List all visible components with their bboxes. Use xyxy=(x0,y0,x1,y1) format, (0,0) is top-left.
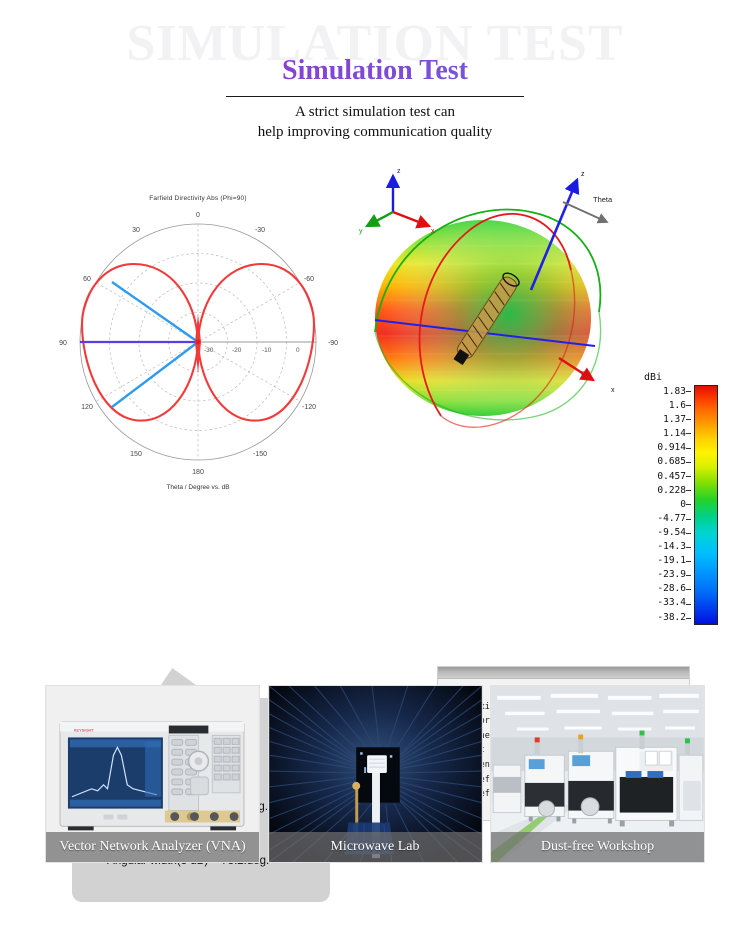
subtitle-line-1: A strict simulation test can xyxy=(0,102,750,122)
photo-microwave-lab[interactable]: Microwave Lab xyxy=(268,685,483,863)
dbi-colorbar-legend: dBi 1.83 1.6 1.37 1.14 0.914 0.685 0.457… xyxy=(630,372,742,642)
svg-text:Theta: Theta xyxy=(593,195,613,204)
svg-text:-10: -10 xyxy=(262,347,272,354)
colorbar-tick: -14.3 xyxy=(630,540,686,554)
page-header: SIMULATION TEST Simulation Test A strict… xyxy=(0,0,750,150)
svg-text:-20: -20 xyxy=(232,347,242,354)
photo-dust-free-workshop[interactable]: Dust-free Workshop xyxy=(490,685,705,863)
svg-text:180: 180 xyxy=(192,469,204,476)
polar-plot-title: Farfield Directivity Abs (Phi=90) xyxy=(48,195,348,202)
svg-text:-120: -120 xyxy=(302,404,316,411)
svg-text:x: x xyxy=(431,228,435,235)
svg-text:0: 0 xyxy=(196,212,200,219)
svg-text:Phi: Phi xyxy=(581,371,590,378)
svg-text:30: 30 xyxy=(132,227,140,234)
colorbar-tick: 0.228 xyxy=(630,484,686,498)
svg-text:0: 0 xyxy=(296,347,300,354)
polar-plot-xlabel: Theta / Degree vs. dB xyxy=(48,484,348,491)
photo-caption: Dust-free Workshop xyxy=(491,832,704,862)
colorbar-tick: 1.37 xyxy=(630,413,686,427)
farfield-3d-svg: z x y z Theta Phi x xyxy=(345,160,645,450)
svg-text:90: 90 xyxy=(59,340,67,347)
parameter-table-header-bar xyxy=(438,667,689,679)
colorbar-tick: -33.4 xyxy=(630,596,686,610)
colorbar-unit-label: dBi xyxy=(644,372,742,383)
colorbar-tick: -19.1 xyxy=(630,554,686,568)
subtitle-line-2: help improving communication quality xyxy=(0,122,750,142)
colorbar-tick: -38.2 xyxy=(630,611,686,625)
colorbar-tick-marks xyxy=(686,385,694,625)
svg-text:-30: -30 xyxy=(204,347,214,354)
colorbar-tick: 1.6 xyxy=(630,399,686,413)
title-divider xyxy=(226,96,524,97)
polar-plot-svg: 0 -30 30 -60 60 -90 90 -120 120 -150 150… xyxy=(48,202,348,482)
colorbar-tick: -28.6 xyxy=(630,582,686,596)
svg-text:z: z xyxy=(581,171,585,178)
colorbar-tick: 0.685 xyxy=(630,455,686,469)
svg-text:z: z xyxy=(397,168,401,175)
farfield-3d-plot: z x y z Theta Phi x xyxy=(345,160,645,450)
svg-text:-60: -60 xyxy=(304,276,314,283)
colorbar-tick: -23.9 xyxy=(630,568,686,582)
photo-caption: Microwave Lab xyxy=(269,832,482,862)
polar-plot-canvas: 0 -30 30 -60 60 -90 90 -120 120 -150 150… xyxy=(48,202,348,482)
colorbar-tick: -9.54 xyxy=(630,526,686,540)
photo-vna[interactable]: KEYSIGHT Vector Network Analyzer (VNA) xyxy=(45,685,260,863)
colorbar-tick: 1.83 xyxy=(630,385,686,399)
colorbar-tick: 1.14 xyxy=(630,427,686,441)
axis-triad: z x y xyxy=(359,168,435,235)
simulation-results-area: Farfield Directivity Abs (Phi=90) xyxy=(0,150,750,670)
colorbar-tick: 0 xyxy=(630,498,686,512)
photo-caption: Vector Network Analyzer (VNA) xyxy=(46,832,259,862)
colorbar-tick: -4.77 xyxy=(630,512,686,526)
page-subtitle: A strict simulation test can help improv… xyxy=(0,102,750,143)
svg-text:x: x xyxy=(611,387,615,394)
page-title: Simulation Test xyxy=(0,55,750,87)
facility-photo-gallery: KEYSIGHT Vector Network Analyzer (VNA) xyxy=(0,685,750,865)
colorbar-tick: 0.457 xyxy=(630,470,686,484)
colorbar-tick-labels: 1.83 1.6 1.37 1.14 0.914 0.685 0.457 0.2… xyxy=(630,385,686,625)
svg-text:-30: -30 xyxy=(255,227,265,234)
svg-text:y: y xyxy=(359,228,363,235)
colorbar-gradient xyxy=(694,385,718,625)
svg-text:-90: -90 xyxy=(328,340,338,347)
polar-directivity-plot: Farfield Directivity Abs (Phi=90) xyxy=(48,195,348,515)
colorbar-tick: 0.914 xyxy=(630,441,686,455)
svg-text:150: 150 xyxy=(130,451,142,458)
svg-text:60: 60 xyxy=(83,276,91,283)
svg-text:-150: -150 xyxy=(253,451,267,458)
svg-text:120: 120 xyxy=(81,404,93,411)
svg-text:KEYSIGHT: KEYSIGHT xyxy=(74,727,95,732)
